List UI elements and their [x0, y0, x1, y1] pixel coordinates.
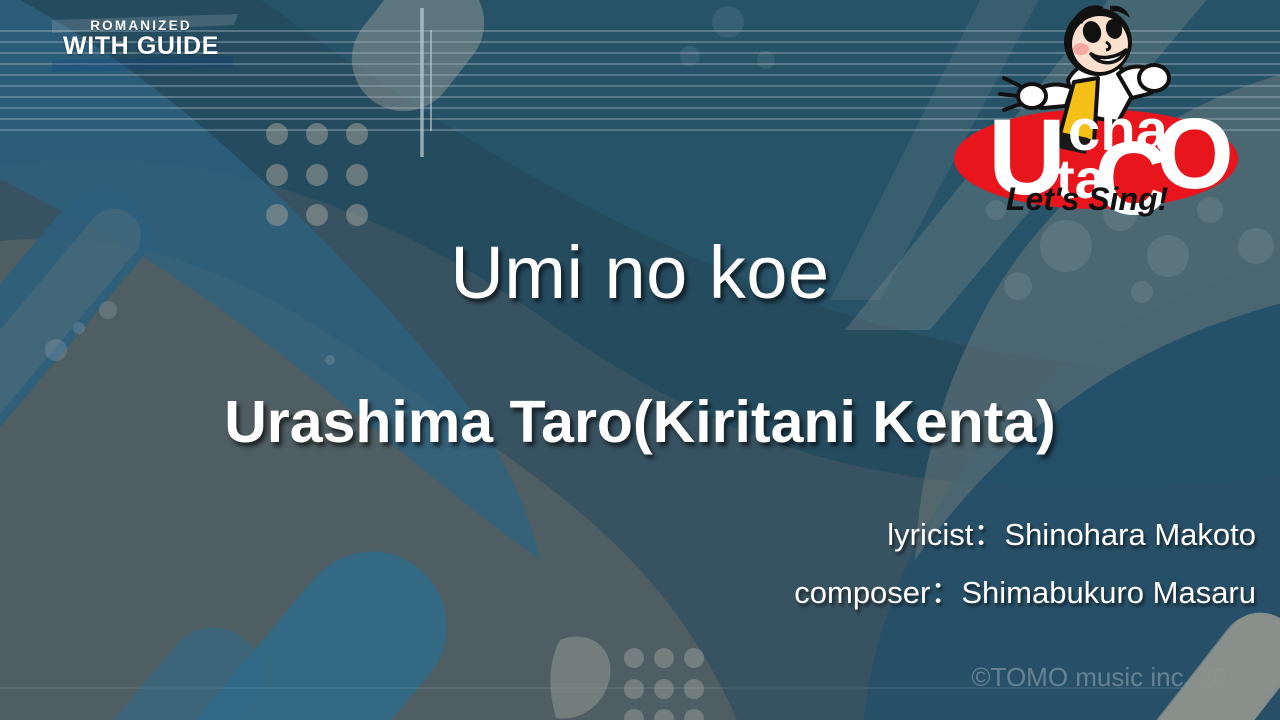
romanized-with-guide-badge: #4FA3E4 #2B82D3 #1565B8 #1E4FA0 #0E2F6E … — [22, 8, 244, 82]
page-title: Umi no koe — [0, 234, 1280, 312]
artist-name: Urashima Taro(Kiritani Kenta) — [0, 392, 1280, 454]
logo-tagline: Let's Sing! — [1006, 181, 1169, 217]
copyright-notice: ©TOMO music inc. 20 — [971, 664, 1227, 690]
ribbon-text-block: ROMANIZED WITH GUIDE — [22, 8, 244, 70]
karaoke-title-screen: #4C9EE0 #ffffff #ffffff — [0, 0, 1280, 720]
badge-line-with-guide: WITH GUIDE — [63, 34, 219, 59]
badge-line-romanized: ROMANIZED — [90, 19, 192, 33]
logo-graphic: U cha ta C O Let's Sing! — [948, 2, 1248, 232]
composer-credit: composer：Shimabukuro Masaru — [794, 576, 1256, 610]
lyricist-credit: lyricist：Shinohara Makoto — [887, 518, 1256, 552]
utachaco-logo: U cha ta C O Let's Sing! — [948, 2, 1248, 232]
